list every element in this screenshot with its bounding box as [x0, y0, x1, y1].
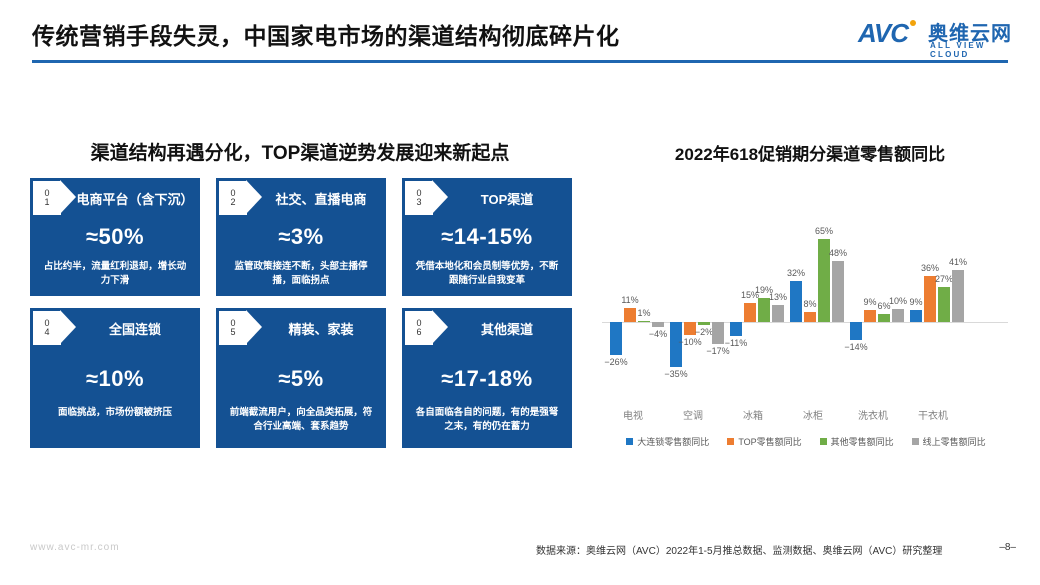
- channel-card[interactable]: 05精装、家装≈5%前端截流用户，向全品类拓展，符合行业高端、套系趋势: [216, 308, 386, 448]
- card-number-badge: 06: [404, 310, 434, 346]
- chart-bar[interactable]: [892, 309, 904, 322]
- legend-label: 其他零售额同比: [831, 435, 894, 448]
- channel-card[interactable]: 02社交、直播电商≈3%监管政策接连不断，头部主播停播，面临拐点: [216, 178, 386, 296]
- badge-chevron-right-icon: [432, 180, 448, 214]
- legend-item[interactable]: 其他零售额同比: [820, 435, 894, 448]
- legend-label: TOP零售额同比: [738, 435, 801, 448]
- x-axis-tick-label: 洗衣机: [843, 407, 903, 422]
- card-number-bottom: 4: [44, 328, 49, 337]
- channel-card[interactable]: 06其他渠道≈17-18%各自面临各自的问题，有的是强弩之末，有的仍在蓄力: [402, 308, 572, 448]
- chart-legend: 大连锁零售额同比TOP零售额同比其他零售额同比线上零售额同比: [596, 431, 1016, 451]
- card-value: ≈14-15%: [402, 224, 572, 250]
- card-description: 监管政策接连不断，头部主播停播，面临拐点: [226, 260, 376, 288]
- page-title: 传统营销手段失灵，中国家电市场的渠道结构彻底碎片化: [32, 17, 620, 51]
- page-number: –8–: [999, 542, 1016, 553]
- chart-bar-label: 32%: [781, 268, 811, 278]
- chart-bar-label: −10%: [675, 337, 705, 347]
- bar-group: 9%36%27%41%: [910, 185, 970, 403]
- chart-x-axis: 电视空调冰箱冰柜洗衣机干衣机: [596, 403, 1016, 427]
- card-description: 前端截流用户，向全品类拓展，符合行业高端、套系趋势: [226, 406, 376, 434]
- chart-bar-label: −14%: [841, 342, 871, 352]
- card-value: ≈3%: [216, 224, 386, 250]
- legend-item[interactable]: TOP零售额同比: [727, 435, 801, 448]
- chart-bar-label: 65%: [809, 226, 839, 236]
- chart-bar[interactable]: [730, 322, 742, 336]
- card-value: ≈5%: [216, 366, 386, 392]
- footer-website-url: www.avc-mr.com: [30, 542, 120, 553]
- x-axis-tick-label: 干衣机: [903, 407, 963, 422]
- footer-data-source: 数据来源：奥维云网（AVC）2022年1-5月推总数据、监测数据、奥维云网（AV…: [536, 542, 942, 557]
- bar-group: 32%8%65%48%: [790, 185, 850, 403]
- chart-bar-label: −35%: [661, 369, 691, 379]
- bar-group: −11%15%19%13%: [730, 185, 790, 403]
- chart-bar-label: 13%: [763, 292, 793, 302]
- chart-bar-label: −26%: [601, 357, 631, 367]
- card-title: TOP渠道: [448, 186, 566, 210]
- card-number-badge: 05: [218, 310, 248, 346]
- chart-bar-label: −4%: [643, 329, 673, 339]
- card-number-bottom: 1: [44, 198, 49, 207]
- card-number-bottom: 3: [416, 198, 421, 207]
- chart-bar[interactable]: [698, 322, 710, 325]
- card-title: 全国连锁: [76, 316, 194, 340]
- card-title: 电商平台（含下沉）: [76, 186, 194, 210]
- channel-card-grid: 01电商平台（含下沉）≈50%占比约半，流量红利退却，增长动力下滑02社交、直播…: [30, 178, 572, 448]
- legend-item[interactable]: 大连锁零售额同比: [626, 435, 709, 448]
- chart-bar-label: 36%: [915, 263, 945, 273]
- badge-chevron-right-icon: [246, 180, 262, 214]
- chart-bar[interactable]: [878, 314, 890, 322]
- card-description: 凭借本地化和会员制等优势，不断跟随行业自我变革: [412, 260, 562, 288]
- chart-bar[interactable]: [610, 322, 622, 355]
- card-number-badge: 01: [32, 180, 62, 216]
- card-value: ≈17-18%: [402, 366, 572, 392]
- channel-card[interactable]: 03TOP渠道≈14-15%凭借本地化和会员制等优势，不断跟随行业自我变革: [402, 178, 572, 296]
- chart-bar[interactable]: [744, 303, 756, 322]
- retail-yoy-bar-chart: −26%11%1%−4%−35%−10%−2%−17%−11%15%19%13%…: [596, 185, 1016, 470]
- card-value: ≈50%: [30, 224, 200, 250]
- chart-bar-label: 41%: [943, 257, 973, 267]
- x-axis-tick-label: 空调: [663, 407, 723, 422]
- legend-color-swatch: [727, 438, 734, 445]
- logo-tagline: ALL VIEW CLOUD: [930, 41, 1016, 59]
- badge-chevron-right-icon: [246, 310, 262, 344]
- legend-color-swatch: [820, 438, 827, 445]
- card-value: ≈10%: [30, 366, 200, 392]
- badge-chevron-right-icon: [60, 310, 76, 344]
- chart-bar[interactable]: [832, 261, 844, 322]
- card-description: 占比约半，流量红利退却，增长动力下滑: [40, 260, 190, 288]
- channel-card[interactable]: 04全国连锁≈10%面临挑战，市场份额被挤压: [30, 308, 200, 448]
- left-panel-heading: 渠道结构再遇分化，TOP渠道逆势发展迎来新起点: [30, 138, 570, 165]
- card-title: 其他渠道: [448, 316, 566, 340]
- logo-mark-text: AVC: [858, 18, 908, 49]
- chart-bar[interactable]: [804, 312, 816, 322]
- chart-bar[interactable]: [772, 305, 784, 322]
- card-number-badge: 02: [218, 180, 248, 216]
- card-number-badge: 04: [32, 310, 62, 346]
- legend-label: 线上零售额同比: [923, 435, 986, 448]
- chart-bar[interactable]: [850, 322, 862, 340]
- legend-label: 大连锁零售额同比: [637, 435, 709, 448]
- badge-chevron-right-icon: [60, 180, 76, 214]
- chart-bar-label: 1%: [629, 308, 659, 318]
- channel-card[interactable]: 01电商平台（含下沉）≈50%占比约半，流量红利退却，增长动力下滑: [30, 178, 200, 296]
- card-number-badge: 03: [404, 180, 434, 216]
- legend-item[interactable]: 线上零售额同比: [912, 435, 986, 448]
- bar-group: −35%−10%−2%−17%: [670, 185, 730, 403]
- chart-bar-label: −11%: [721, 338, 751, 348]
- card-title: 社交、直播电商: [262, 186, 380, 210]
- bar-group: −14%9%6%10%: [850, 185, 910, 403]
- avc-logo: AVC 奥维云网 ALL VIEW CLOUD: [858, 14, 1016, 56]
- legend-color-swatch: [626, 438, 633, 445]
- chart-bar-label: 48%: [823, 248, 853, 258]
- legend-color-swatch: [912, 438, 919, 445]
- chart-title: 2022年618促销期分渠道零售额同比: [600, 140, 1020, 165]
- x-axis-tick-label: 电视: [603, 407, 663, 422]
- logo-dot-icon: [910, 20, 916, 26]
- chart-bar[interactable]: [910, 310, 922, 322]
- card-description: 各自面临各自的问题，有的是强弩之末，有的仍在蓄力: [412, 406, 562, 434]
- title-divider: [32, 60, 1008, 63]
- x-axis-tick-label: 冰箱: [723, 407, 783, 422]
- slide-header: 传统营销手段失灵，中国家电市场的渠道结构彻底碎片化 AVC 奥维云网 ALL V…: [0, 0, 1040, 72]
- x-axis-tick-label: 冰柜: [783, 407, 843, 422]
- card-number-bottom: 6: [416, 328, 421, 337]
- card-description: 面临挑战，市场份额被挤压: [40, 406, 190, 420]
- chart-bar[interactable]: [952, 270, 964, 322]
- card-number-bottom: 2: [230, 198, 235, 207]
- chart-bar[interactable]: [638, 321, 650, 322]
- chart-bar[interactable]: [938, 287, 950, 322]
- chart-plot-area: −26%11%1%−4%−35%−10%−2%−17%−11%15%19%13%…: [596, 185, 1016, 403]
- chart-bar[interactable]: [864, 310, 876, 322]
- chart-bar[interactable]: [652, 322, 664, 327]
- badge-chevron-right-icon: [432, 310, 448, 344]
- card-number-bottom: 5: [230, 328, 235, 337]
- chart-bar-label: 11%: [615, 295, 645, 305]
- card-title: 精装、家装: [262, 316, 380, 340]
